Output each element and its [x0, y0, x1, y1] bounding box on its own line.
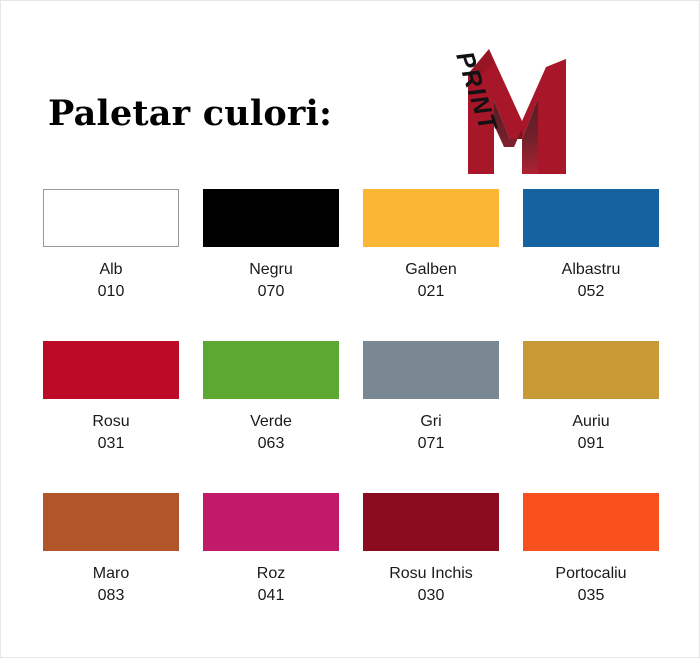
palette-cell-gri[interactable]: Gri 071	[363, 341, 499, 493]
swatch-name: Auriu	[572, 411, 609, 433]
swatch-name: Portocaliu	[555, 563, 626, 585]
palette-cell-maro[interactable]: Maro 083	[43, 493, 179, 645]
color-swatch[interactable]	[363, 189, 499, 247]
color-swatch[interactable]	[523, 493, 659, 551]
swatch-code: 052	[578, 281, 605, 303]
swatch-name: Albastru	[562, 259, 621, 281]
palette-grid: Alb 010 Negru 070 Galben 021 Albastru 05…	[43, 189, 659, 645]
palette-cell-portocaliu[interactable]: Portocaliu 035	[523, 493, 659, 645]
mprint-logo: PRINT	[426, 29, 576, 174]
color-swatch[interactable]	[523, 189, 659, 247]
page-title: Paletar culori:	[48, 93, 332, 134]
swatch-code: 031	[98, 433, 125, 455]
color-swatch[interactable]	[43, 493, 179, 551]
color-swatch[interactable]	[363, 493, 499, 551]
swatch-code: 063	[258, 433, 285, 455]
color-swatch[interactable]	[203, 493, 339, 551]
palette-cell-negru[interactable]: Negru 070	[203, 189, 339, 341]
palette-cell-auriu[interactable]: Auriu 091	[523, 341, 659, 493]
swatch-name: Galben	[405, 259, 457, 281]
swatch-name: Maro	[93, 563, 129, 585]
swatch-code: 071	[418, 433, 445, 455]
color-swatch[interactable]	[203, 189, 339, 247]
color-swatch[interactable]	[203, 341, 339, 399]
palette-cell-alb[interactable]: Alb 010	[43, 189, 179, 341]
swatch-code: 070	[258, 281, 285, 303]
palette-row: Alb 010 Negru 070 Galben 021 Albastru 05…	[43, 189, 659, 341]
color-swatch[interactable]	[363, 341, 499, 399]
swatch-name: Gri	[420, 411, 441, 433]
swatch-code: 041	[258, 585, 285, 607]
mprint-logo-graphic: PRINT	[426, 29, 576, 174]
palette-row: Maro 083 Roz 041 Rosu Inchis 030 Portoca…	[43, 493, 659, 645]
swatch-name: Rosu	[92, 411, 129, 433]
palette-row: Rosu 031 Verde 063 Gri 071 Auriu 091	[43, 341, 659, 493]
swatch-name: Verde	[250, 411, 292, 433]
palette-cell-roz[interactable]: Roz 041	[203, 493, 339, 645]
swatch-code: 035	[578, 585, 605, 607]
swatch-name: Alb	[99, 259, 122, 281]
palette-cell-rosu-inchis[interactable]: Rosu Inchis 030	[363, 493, 499, 645]
swatch-code: 083	[98, 585, 125, 607]
palette-cell-verde[interactable]: Verde 063	[203, 341, 339, 493]
palette-cell-rosu[interactable]: Rosu 031	[43, 341, 179, 493]
palette-cell-galben[interactable]: Galben 021	[363, 189, 499, 341]
swatch-code: 021	[418, 281, 445, 303]
swatch-code: 030	[418, 585, 445, 607]
swatch-code: 010	[98, 281, 125, 303]
swatch-code: 091	[578, 433, 605, 455]
color-palette-page: Paletar culori:	[0, 0, 700, 658]
color-swatch[interactable]	[43, 189, 179, 247]
swatch-name: Rosu Inchis	[389, 563, 473, 585]
palette-cell-albastru[interactable]: Albastru 052	[523, 189, 659, 341]
page-header: Paletar culori:	[1, 1, 700, 181]
swatch-name: Negru	[249, 259, 293, 281]
color-swatch[interactable]	[43, 341, 179, 399]
swatch-name: Roz	[257, 563, 285, 585]
color-swatch[interactable]	[523, 341, 659, 399]
